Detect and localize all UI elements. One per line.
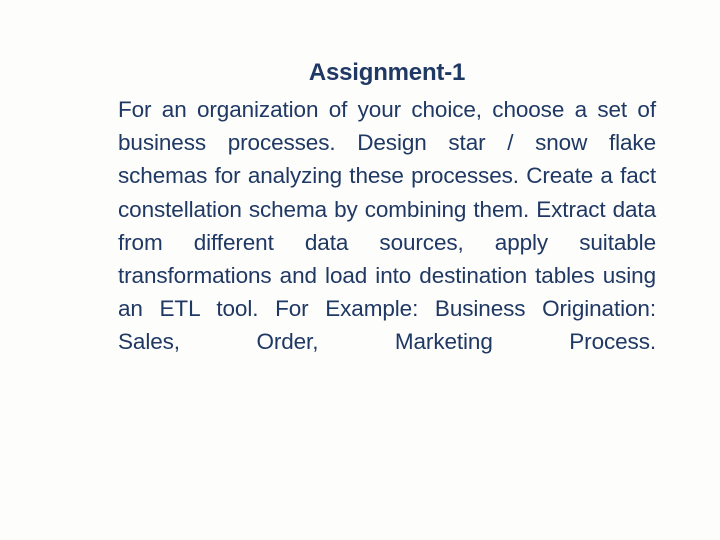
assignment-description-text: For an organization of your choice, choo… [118, 93, 656, 392]
slide-canvas: Assignment-1 For an organization of your… [0, 0, 720, 540]
page-title: Assignment-1 [118, 56, 656, 89]
slide-content-block: Assignment-1 For an organization of your… [118, 56, 656, 392]
